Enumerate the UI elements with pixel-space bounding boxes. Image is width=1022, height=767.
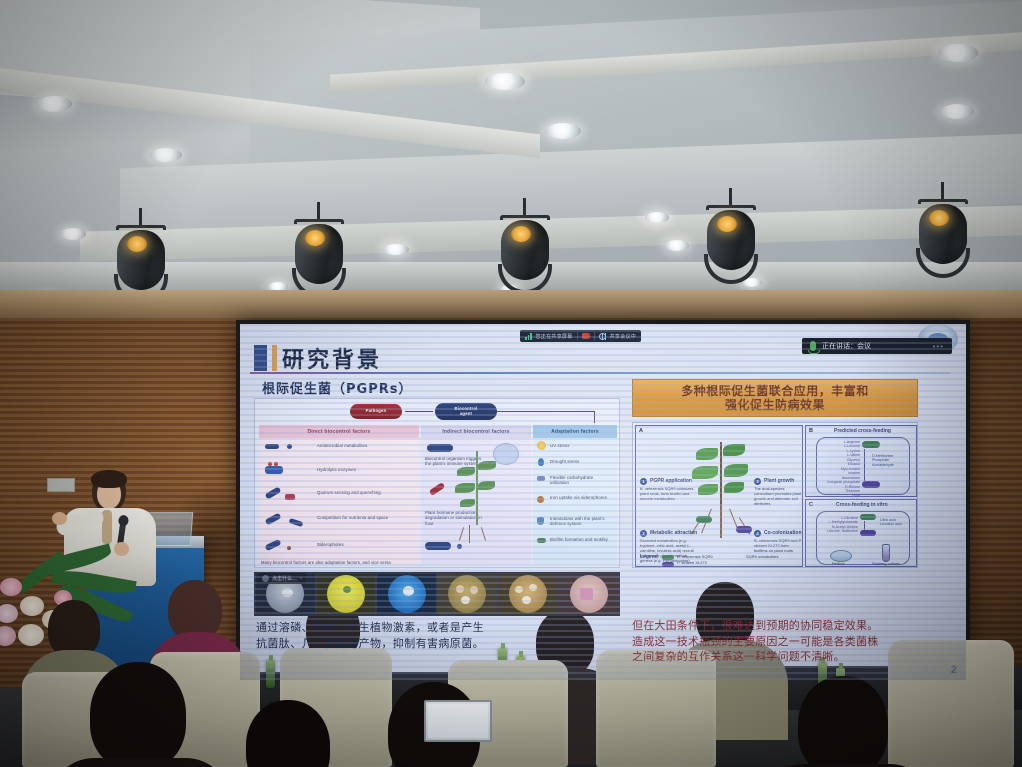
bca-label-2: agent [460, 412, 472, 417]
signal-bars-icon [525, 333, 532, 340]
downlight-icon [383, 244, 409, 255]
laptop-screen [428, 704, 488, 738]
figure-footnote: Many biocontrol factors are also adaptat… [261, 560, 391, 565]
factor-label: Competition for nutrients and space [317, 515, 413, 520]
iron-glyph [537, 496, 544, 503]
screen-share-status-bar[interactable]: 您正在共享屏幕 共享会议中 [520, 330, 641, 342]
shield-icon [537, 517, 544, 525]
sun-icon [537, 441, 546, 450]
panel-c-label: C [809, 502, 813, 508]
downlight-icon [545, 123, 581, 139]
bacterium-glyph [289, 518, 304, 527]
spotlight-lamp [127, 236, 147, 252]
panel-c-left-metabolites: L-CitrullineL-MethylglutamateN-Acetyl-Ur… [818, 516, 858, 534]
legend-swatch [662, 555, 674, 560]
petri-photo [559, 574, 618, 614]
cross-feeding-figure: A 1 PGPR application B. velezensis SQR9 … [632, 422, 918, 568]
stage-spotlight [288, 202, 350, 298]
head [90, 662, 186, 767]
body-line-1: 但在大田条件下，很难达到预期的协同稳定效果。 [632, 618, 922, 634]
legend-item: P. stutzeri XL272 [677, 561, 727, 566]
droplet-icon [538, 458, 544, 466]
factor-label: Biofilm formation and motility [550, 537, 612, 542]
slide-page-number: 2 [951, 664, 957, 676]
panel-a: A 1 PGPR application B. velezensis SQR9 … [635, 425, 803, 567]
bacterium-glyph [265, 444, 279, 449]
downlight-icon [150, 148, 182, 162]
column-header-indirect: Indirect biocontrol factors [421, 425, 531, 438]
column-header-direct: Direct biocontrol factors [259, 425, 419, 438]
flower-bloom [18, 624, 44, 646]
plant-root [469, 525, 470, 543]
stage-spotlight [494, 198, 556, 294]
factor-label: Hydrolytic enzymes [317, 467, 413, 472]
head [168, 580, 222, 640]
plant-leaf [455, 483, 475, 493]
plant-leaf [457, 467, 475, 476]
more-options-icon[interactable]: ••• [933, 342, 944, 351]
sharing-label: 共享会议中 [610, 333, 637, 340]
downlight-icon [938, 44, 978, 62]
panel-a-label: A [639, 428, 643, 434]
downlight-icon [485, 73, 525, 90]
factor-label: Iron uptake via siderophores [550, 495, 612, 500]
plate [509, 575, 547, 613]
plate [448, 575, 486, 613]
slide-body-text-right: 但在大田条件下，很难达到预期的协同稳定效果。 造成这一技术瓶颈的主要原因之一可能… [632, 618, 922, 665]
projection-screen: 您正在共享屏幕 共享会议中 正在讲话：会议 ••• 研究背景 根际促生菌（PGP… [240, 324, 966, 680]
bacterium-pill [425, 542, 451, 550]
factor-label: Flexible carbohydrate utilization [550, 475, 612, 486]
pathogen-node: Pathogen [350, 404, 402, 419]
pathogen-glyph [429, 482, 446, 496]
panel-c-title: Cross-feeding in vitro [836, 502, 888, 508]
flux-arrow [864, 449, 865, 481]
factor-label: Siderophores [317, 542, 413, 547]
downlight-icon [36, 96, 72, 112]
stage-spotlight [912, 182, 974, 278]
connector [497, 411, 595, 412]
flower-bloom [0, 578, 22, 596]
title-marker-orange [272, 345, 277, 371]
panel-b-right-metabolites: D-MethioninePhosphateAcetaldehyde [872, 454, 914, 467]
colony [343, 586, 351, 593]
globe-icon [599, 333, 606, 340]
body-line-1: 通过溶磷、固氮、产生植物激素，或者是产生 [256, 620, 618, 636]
step-text: B. velezensis SQR9 colonizes plant roots… [640, 487, 696, 502]
title-divider [250, 372, 950, 374]
speaking-status-bar[interactable]: 正在讲话：会议 ••• [802, 338, 952, 354]
slide-title: 研究背景 [254, 342, 382, 374]
xl272-cell-glyph [862, 481, 880, 488]
speaker-lanyard [102, 510, 112, 544]
divider [577, 332, 578, 340]
connector [594, 411, 595, 423]
panel-b-label: B [809, 428, 813, 434]
plant-leaf [696, 448, 718, 460]
slide-body-text-left: 通过溶磷、固氮、产生植物激素，或者是产生 抗菌肽、几丁质酶等产物，抑制有害病原菌… [256, 620, 618, 652]
factor-label: UV stress [550, 443, 612, 448]
panel-b-title: Predicted cross-feeding [834, 428, 891, 434]
body-line-2: 抗菌肽、几丁质酶等产物，抑制有害病原菌。 [256, 636, 618, 652]
enzyme-glyph [265, 466, 283, 474]
audience-chair [596, 650, 716, 767]
factor-label: Quorum sensing and quenching [317, 490, 413, 495]
molecule-glyph [457, 544, 462, 549]
bacterium-glyph [265, 513, 282, 526]
speaker-hand [52, 512, 67, 525]
flux-arrow [864, 521, 865, 530]
molecule-glyph [287, 444, 292, 449]
panel-b-left-metabolites: L-ArginineL-LeucineL-LysineL-ValineGlyce… [818, 440, 860, 502]
step-number: 3 [754, 478, 761, 485]
slide-title-text: 研究背景 [282, 342, 382, 374]
plant-leaf [478, 461, 496, 470]
biofilm-glyph [537, 538, 546, 543]
banner-line-2: 强化促生防病效果 [725, 398, 825, 412]
spotlight-ring [916, 248, 970, 278]
conference-room-photo: 您正在共享屏幕 共享会议中 正在讲话：会议 ••• 研究背景 根际促生菌（PGP… [0, 0, 1022, 767]
colony [470, 586, 478, 594]
plant-root [720, 504, 722, 538]
tooltip-label: 点击什么… [272, 575, 297, 582]
ceiling [0, 0, 1022, 318]
title-marker-blue [254, 345, 267, 371]
spotlight-lamp [717, 216, 737, 232]
flower-bloom [0, 626, 16, 646]
laptop[interactable] [420, 700, 496, 746]
water-bottle [266, 660, 275, 688]
step-title: Metabolic attraction [650, 530, 697, 536]
factor-label: Drought stress [550, 459, 612, 464]
column-body-direct: Antimicrobial metabolites Hydrolytic enz… [259, 438, 419, 564]
panel-c-right-metabolites: Citric acidLevulinic acid [880, 518, 912, 527]
colony [456, 585, 464, 593]
step-number: 1 [640, 478, 647, 485]
biocontrol-agent-node: Biocontrol agent [435, 403, 497, 420]
microphone-icon [810, 341, 816, 351]
colony [282, 588, 293, 597]
speaking-label: 正在讲话：会议 [822, 341, 871, 351]
recording-label: 您正在共享屏幕 [536, 333, 573, 340]
downlight-icon [645, 212, 669, 223]
signal-glyph [285, 494, 295, 500]
downlight-icon [60, 228, 86, 240]
plant-leaf [724, 464, 748, 477]
flower-bloom [0, 604, 18, 623]
projection-screen-frame: 您正在共享屏幕 共享会议中 正在讲话：会议 ••• 研究背景 根际促生菌（PGP… [236, 320, 970, 684]
step-title: PGPR application [650, 478, 692, 484]
step-title: Plant growth [764, 478, 794, 484]
sqr9-biofilm-glyph [696, 516, 712, 523]
magnifier-bubble [493, 443, 519, 465]
spotlight-ring [704, 254, 758, 284]
spotlight-lamp [511, 226, 531, 242]
bacterium-glyph [265, 486, 282, 499]
biocontrol-factors-figure: Pathogen Biocontrol agent Direct biocont… [254, 398, 620, 568]
flower-bloom [20, 596, 44, 616]
siderophore-glyph [287, 546, 291, 550]
molecule-glyph [268, 462, 272, 466]
step-title: Co-colonization [764, 530, 802, 536]
sqr9-cell-glyph [860, 514, 876, 520]
body-line-3: 之间复杂的互作关系这一科学问题不清晰。 [632, 649, 922, 665]
plant-leaf [698, 484, 718, 495]
molecule-glyph [274, 462, 278, 466]
culture-label: Pellicle [832, 562, 845, 567]
sqr9-cell-glyph [862, 441, 880, 448]
carbohydrate-glyph [537, 476, 545, 481]
connector [405, 411, 433, 412]
stage-spotlight [700, 188, 762, 284]
pathogen-label: Pathogen [366, 409, 387, 414]
click-hint-tooltip[interactable]: 点击什么… ‹ [258, 573, 306, 584]
factor-label: Interactions with the plant's defence sy… [550, 516, 612, 527]
test-tube-glyph [882, 544, 890, 562]
legend-item: SQR9 metabolites [746, 555, 802, 560]
column-header-adaptation: Adaptation factors [533, 425, 617, 438]
xl272-biofilm-glyph [736, 526, 752, 533]
bacterium-glyph [264, 539, 281, 551]
petri-photo [377, 574, 436, 614]
culture-label: Shaking culture [872, 562, 900, 567]
step-text: The dual-species consortium promotes pla… [754, 487, 802, 507]
petri-photo [317, 574, 376, 614]
colony [403, 586, 414, 596]
plant-leaf [723, 444, 745, 456]
bacterium-pill [427, 444, 453, 452]
info-icon [262, 575, 269, 582]
plant-leaf [692, 466, 718, 479]
chevron-left-icon[interactable]: ‹ [300, 576, 302, 582]
downlight-icon [940, 104, 974, 119]
plant-leaf [460, 499, 475, 507]
legend-swatch [662, 562, 674, 567]
panel-b: B Predicted cross-feeding L-ArginineL-Le… [805, 425, 917, 497]
petri-photo [438, 574, 497, 614]
petri-photo [499, 574, 558, 614]
xl272-cell-glyph [860, 530, 876, 536]
banner-line-1: 多种根际促生菌联合应用，丰富和 [681, 384, 869, 398]
petri-dish-photo-strip: 点击什么… ‹ [254, 572, 620, 616]
colony [580, 588, 593, 600]
body-line-2: 造成这一技术瓶颈的主要原因之一可能是各类菌株 [632, 634, 922, 650]
head [798, 676, 888, 767]
divider [594, 332, 595, 340]
downlight-icon [665, 240, 689, 251]
plant-leaf [724, 482, 744, 493]
step-text: B. velezensis SQR9 and P. stutzeri XL272… [754, 539, 802, 554]
share-screen-icon[interactable] [582, 333, 590, 339]
step-number: 4 [754, 530, 761, 537]
slide-subheading: 根际促生菌（PGPRs） [262, 378, 412, 397]
factor-label: Antimicrobial metabolites [317, 443, 413, 448]
spotlight-lamp [929, 210, 949, 226]
plant-stem [720, 442, 722, 504]
column-body-adaptation: UV stress Drought stress Flexible carboh… [533, 438, 617, 564]
plant-leaf [478, 481, 495, 490]
step-number: 2 [640, 530, 647, 537]
legend-title: Legend [640, 554, 658, 560]
plate [327, 575, 365, 613]
speaker-hair [91, 470, 127, 488]
spotlight-lamp [305, 230, 325, 246]
panel-c: C Cross-feeding in vitro L-CitrullineL-M… [805, 499, 917, 567]
highlight-banner: 多种根际促生菌联合应用，丰富和 强化促生防病效果 [632, 379, 918, 417]
